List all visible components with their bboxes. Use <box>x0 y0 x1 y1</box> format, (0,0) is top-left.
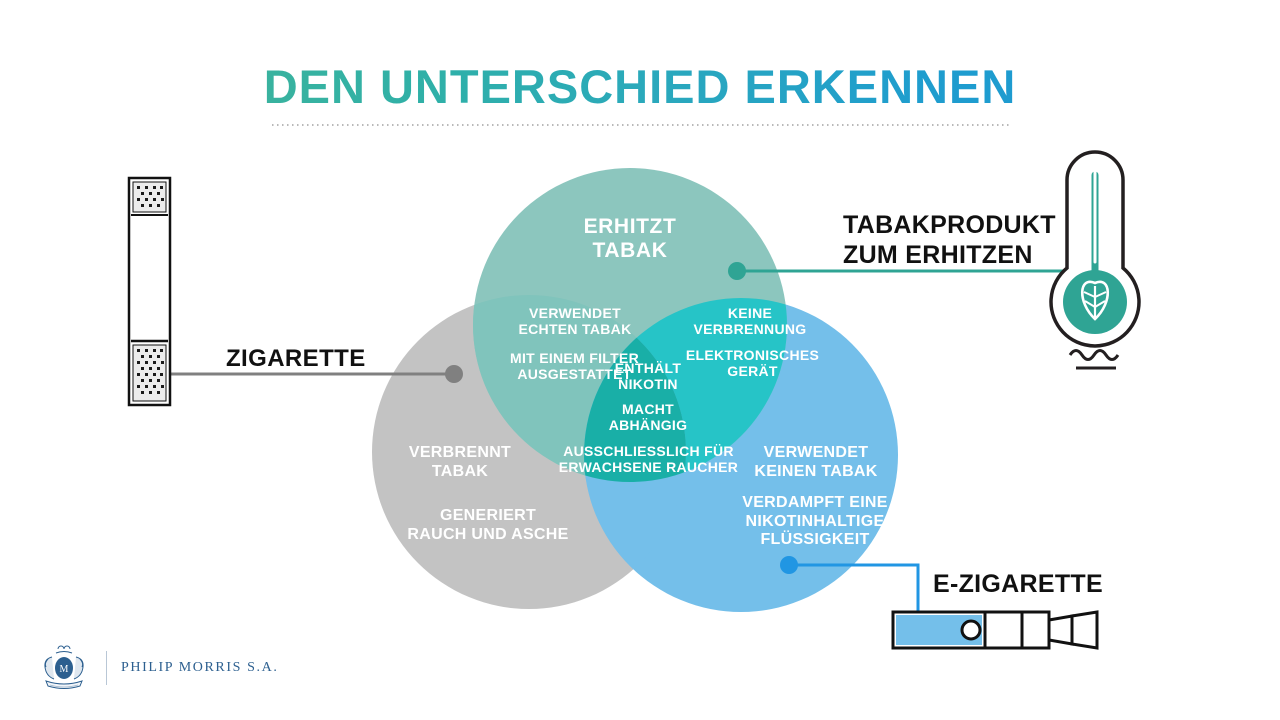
venn-diagram <box>0 0 1280 720</box>
callout-label-ecigarette: E-ZIGARETTE <box>933 570 1103 600</box>
callout-label-cigarette: ZIGARETTE <box>226 345 366 373</box>
cigarette-icon <box>129 178 170 405</box>
coat-of-arms-crest-icon: M <box>34 645 94 691</box>
brand-logo: M PHILIP MORRIS S.A. <box>34 645 278 691</box>
slide-canvas: DEN UNTERSCHIED ERKENNEN <box>0 0 1280 720</box>
thermometer-leaf-icon <box>1051 152 1139 368</box>
logo-wordmark: PHILIP MORRIS S.A. <box>107 660 278 676</box>
svg-text:M: M <box>60 664 69 675</box>
e-cigarette-icon <box>893 612 1097 648</box>
callout-label-heated: TABAKPRODUKT ZUM ERHITZEN <box>843 211 1056 270</box>
